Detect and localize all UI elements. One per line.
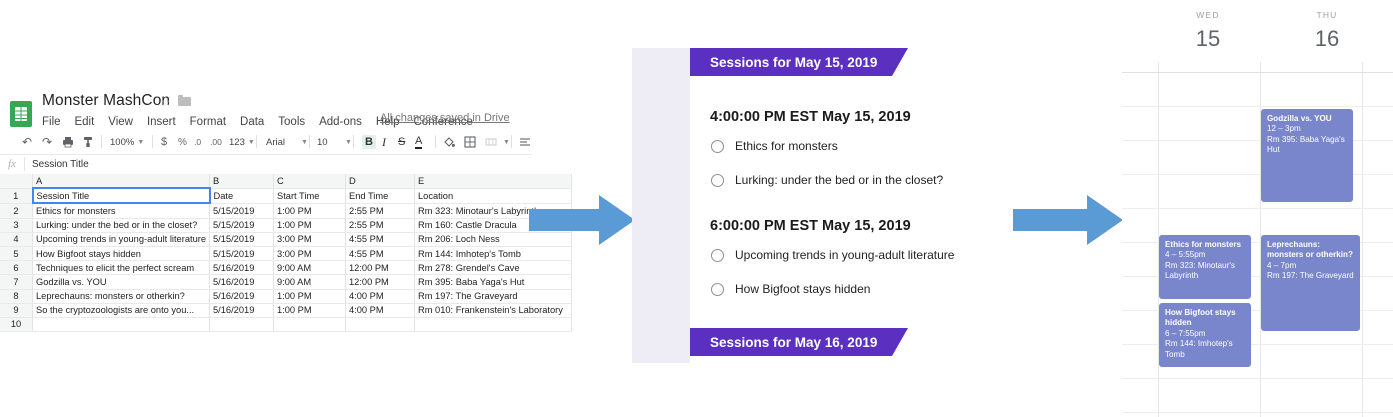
strikethrough-label: S	[398, 136, 405, 148]
row-header[interactable]: 7	[0, 275, 33, 289]
toolbar-divider	[101, 135, 102, 148]
cell-start[interactable]: 1:00 PM	[274, 203, 346, 218]
cell-d1[interactable]: End Time	[346, 188, 415, 203]
text-color-button[interactable]: A	[415, 132, 422, 152]
cell-title[interactable]: How Bigfoot stays hidden	[33, 246, 210, 260]
cell-title[interactable]: Godzilla vs. YOU	[33, 275, 210, 289]
calendar-event-godzilla[interactable]: Godzilla vs. YOU 12 – 3pm Rm 395: Baba Y…	[1261, 109, 1353, 202]
cell-start[interactable]: 9:00 AM	[274, 261, 346, 275]
calendar-event-location: Rm 197: The Graveyard	[1267, 271, 1354, 281]
column-header-c[interactable]: C	[274, 174, 346, 188]
cell-start[interactable]: 3:00 PM	[274, 232, 346, 246]
row-header[interactable]: 5	[0, 246, 33, 260]
calendar-day-header-thu[interactable]: THU 16	[1277, 10, 1377, 52]
calendar-event-time: 6 – 7:55pm	[1165, 329, 1245, 339]
spreadsheet-table: A B C D E 1 Session Title Date Start Tim…	[0, 174, 572, 332]
sessions-banner-label: Sessions for May 16, 2019	[710, 335, 877, 350]
borders-icon[interactable]	[464, 132, 476, 152]
paint-format-icon[interactable]	[82, 132, 94, 152]
row-header[interactable]: 1	[0, 188, 33, 203]
arrow-sheets-to-sessions	[529, 195, 635, 245]
cell-start[interactable]: 9:00 AM	[274, 275, 346, 289]
cell-date[interactable]: 5/15/2019	[210, 246, 274, 260]
redo-button[interactable]: ↷	[42, 132, 52, 152]
font-size-chevron-down-icon[interactable]: ▼	[342, 132, 352, 152]
calendar-event-time: 4 – 7pm	[1267, 261, 1354, 271]
sessions-panel-backdrop	[632, 48, 690, 363]
row-header[interactable]: 8	[0, 289, 33, 303]
calendar-day-number: 15	[1158, 26, 1258, 52]
table-row[interactable]: 7 Godzilla vs. YOU 5/16/2019 9:00 AM 12:…	[0, 275, 572, 289]
currency-format-button[interactable]: $	[161, 132, 167, 152]
table-row[interactable]: 6 Techniques to elicit the perfect screa…	[0, 261, 572, 275]
fill-color-icon[interactable]	[443, 132, 455, 152]
row-header[interactable]: 9	[0, 303, 33, 317]
undo-button[interactable]: ↶	[22, 132, 32, 152]
fx-icon: fx	[8, 158, 16, 170]
cell-title[interactable]: Upcoming trends in young-adult literatur…	[33, 232, 210, 246]
calendar-day-header-wed[interactable]: WED 15	[1158, 10, 1258, 52]
italic-button[interactable]: I	[382, 132, 386, 152]
document-title[interactable]: Monster MashCon	[42, 92, 170, 110]
session-option-label: Upcoming trends in young-adult literatur…	[735, 248, 954, 262]
calendar-event-title: Godzilla vs. YOU	[1267, 114, 1347, 124]
cell-start[interactable]: 3:00 PM	[274, 246, 346, 260]
toolbar-divider	[256, 135, 257, 148]
cell-empty[interactable]	[210, 317, 274, 331]
sessions-panel: Sessions for May 15, 2019 4:00:00 PM EST…	[632, 48, 957, 363]
decrease-decimal-button[interactable]: .0	[194, 132, 201, 152]
session-option-lurking[interactable]: Lurking: under the bed or in the closet?	[711, 173, 943, 187]
calendar-event-leprechauns[interactable]: Leprechauns: monsters or otherkin? 4 – 7…	[1261, 235, 1360, 331]
cell-date[interactable]: 5/15/2019	[210, 203, 274, 218]
session-option-upcoming-trends[interactable]: Upcoming trends in young-adult literatur…	[711, 248, 954, 262]
google-sheets-panel: Monster MashCon ☆ File Edit View Insert …	[0, 92, 532, 320]
row-header[interactable]: 10	[0, 317, 33, 331]
google-sheets-logo-icon	[10, 101, 32, 127]
cell-start[interactable]: 1:00 PM	[274, 303, 346, 317]
spreadsheet-grid[interactable]: A B C D E 1 Session Title Date Start Tim…	[0, 174, 532, 314]
cell-title[interactable]: Techniques to elicit the perfect scream	[33, 261, 210, 275]
column-header-d[interactable]: D	[346, 174, 415, 188]
calendar-event-ethics[interactable]: Ethics for monsters 4 – 5:55pm Rm 323: M…	[1159, 235, 1251, 299]
column-header-row: A B C D E	[0, 174, 572, 188]
bold-label: B	[362, 135, 376, 149]
cell-end[interactable]: 2:55 PM	[346, 218, 415, 232]
column-header-a[interactable]: A	[33, 174, 210, 188]
menu-item-format[interactable]: Format	[190, 116, 226, 128]
cell-a1[interactable]: Session Title	[33, 188, 210, 203]
cell-location[interactable]: Rm 010: Frankenstein's Laboratory	[415, 303, 572, 317]
cell-title[interactable]: Leprechauns: monsters or otherkin?	[33, 289, 210, 303]
calendar-event-bigfoot[interactable]: How Bigfoot stays hidden 6 – 7:55pm Rm 1…	[1159, 303, 1251, 367]
session-option-label: Ethics for monsters	[735, 139, 838, 153]
column-header-b[interactable]: B	[210, 174, 274, 188]
sessions-banner-label: Sessions for May 15, 2019	[710, 55, 877, 70]
radio-button-icon[interactable]	[711, 283, 724, 296]
corner-select-all[interactable]	[0, 174, 33, 188]
table-row[interactable]: 2 Ethics for monsters 5/15/2019 1:00 PM …	[0, 203, 572, 218]
table-row[interactable]: 10	[0, 317, 572, 331]
row-header[interactable]: 6	[0, 261, 33, 275]
table-row[interactable]: 3 Lurking: under the bed or in the close…	[0, 218, 572, 232]
calendar-event-title: How Bigfoot stays hidden	[1165, 308, 1245, 329]
radio-button-icon[interactable]	[711, 249, 724, 262]
cell-end[interactable]: 2:55 PM	[346, 203, 415, 218]
cell-empty[interactable]	[274, 317, 346, 331]
cell-end[interactable]: 4:55 PM	[346, 232, 415, 246]
session-option-ethics[interactable]: Ethics for monsters	[711, 139, 838, 153]
sheets-toolbar: ↶ ↷ 100%▼ $ % .0 .00 123▼ Arial ▼	[0, 132, 532, 152]
cell-c1[interactable]: Start Time	[274, 188, 346, 203]
save-status-link[interactable]: All changes saved in Drive	[380, 112, 510, 124]
increase-decimal-button[interactable]: .00	[210, 132, 222, 152]
table-row[interactable]: 4 Upcoming trends in young-adult literat…	[0, 232, 572, 246]
cell-title[interactable]: Lurking: under the bed or in the closet?	[33, 218, 210, 232]
calendar-hour-line	[1122, 412, 1393, 413]
table-row[interactable]: 9 So the cryptozoologists are onto you..…	[0, 303, 572, 317]
slot-title-4pm: 4:00:00 PM EST May 15, 2019	[710, 109, 911, 125]
cell-location[interactable]: Rm 278: Grendel's Cave	[415, 261, 572, 275]
calendar-event-location: Rm 144: Imhotep's Tomb	[1165, 339, 1245, 360]
table-row[interactable]: 8 Leprechauns: monsters or otherkin? 5/1…	[0, 289, 572, 303]
cell-end[interactable]: 12:00 PM	[346, 261, 415, 275]
strikethrough-button[interactable]: S	[398, 132, 405, 152]
toolbar-divider	[309, 135, 310, 148]
calendar-header: WED 15 THU 16	[1122, 0, 1393, 62]
session-option-label: How Bigfoot stays hidden	[735, 282, 870, 296]
cell-b1[interactable]: Date	[210, 188, 274, 203]
text-color-label: A	[415, 136, 422, 149]
cell-end[interactable]: 4:55 PM	[346, 246, 415, 260]
calendar-event-title: Leprechauns: monsters or otherkin?	[1267, 240, 1354, 261]
radio-button-icon[interactable]	[711, 140, 724, 153]
calendar-hour-line	[1122, 208, 1393, 209]
calendar-day-number: 16	[1277, 26, 1377, 52]
table-row[interactable]: 5 How Bigfoot stays hidden 5/15/2019 3:0…	[0, 246, 572, 260]
cell-end[interactable]: 4:00 PM	[346, 303, 415, 317]
toolbar-divider	[152, 135, 153, 148]
banner-notch	[892, 328, 908, 356]
calendar-event-location: Rm 323: Minotaur's Labyrinth	[1165, 261, 1245, 282]
menu-item-addons[interactable]: Add-ons	[319, 116, 362, 128]
align-icon[interactable]	[519, 132, 531, 152]
menu-item-file[interactable]: File	[42, 116, 61, 128]
calendar-hour-line	[1122, 106, 1393, 107]
zoom-value: 100%	[110, 137, 134, 148]
star-outline-icon[interactable]: ☆	[160, 96, 172, 108]
workflow-diagram: Monster MashCon ☆ File Edit View Insert …	[0, 0, 1393, 417]
calendar-event-title: Ethics for monsters	[1165, 240, 1245, 250]
calendar-hour-line	[1122, 378, 1393, 379]
calendar-event-location: Rm 395: Baba Yaga's Hut	[1267, 135, 1347, 156]
font-family-chevron-down-icon[interactable]: ▼	[298, 132, 308, 152]
sessions-banner-may-15: Sessions for May 15, 2019	[690, 48, 892, 76]
sessions-card: Sessions for May 15, 2019 4:00:00 PM EST…	[690, 48, 957, 363]
menu-item-insert[interactable]: Insert	[147, 116, 176, 128]
cell-location[interactable]: Rm 395: Baba Yaga's Hut	[415, 275, 572, 289]
cell-end[interactable]: 4:00 PM	[346, 289, 415, 303]
cell-date[interactable]: 5/16/2019	[210, 303, 274, 317]
menu-item-data[interactable]: Data	[240, 116, 264, 128]
google-calendar-panel: WED 15 THU 16 Godzilla vs. YOU 12 – 3pm	[1122, 0, 1393, 417]
column-header-e[interactable]: E	[415, 174, 572, 188]
font-family-selector[interactable]: Arial	[266, 132, 285, 152]
cell-location[interactable]: Rm 197: The Graveyard	[415, 289, 572, 303]
calendar-column-divider	[1362, 62, 1363, 417]
session-option-label: Lurking: under the bed or in the closet?	[735, 173, 943, 187]
folder-icon[interactable]	[178, 97, 191, 107]
cell-date[interactable]: 5/16/2019	[210, 289, 274, 303]
bold-button[interactable]: B	[362, 132, 376, 152]
cell-end[interactable]: 12:00 PM	[346, 275, 415, 289]
menu-item-view[interactable]: View	[108, 116, 133, 128]
formula-bar[interactable]: fx Session Title	[0, 154, 532, 175]
percent-format-button[interactable]: %	[178, 132, 187, 152]
toolbar-divider	[511, 135, 512, 148]
menu-item-edit[interactable]: Edit	[74, 116, 94, 128]
merge-cells-icon[interactable]	[485, 132, 497, 152]
radio-button-icon[interactable]	[711, 174, 724, 187]
calendar-day-of-week: WED	[1158, 10, 1258, 20]
zoom-selector[interactable]: 100%▼	[110, 132, 144, 152]
print-icon[interactable]	[62, 132, 74, 152]
cell-date[interactable]: 5/16/2019	[210, 261, 274, 275]
font-size-selector[interactable]: 10	[317, 132, 328, 152]
toolbar-divider	[353, 135, 354, 148]
cell-title[interactable]: Ethics for monsters	[33, 203, 210, 218]
merge-chevron-down-icon[interactable]: ▼	[500, 132, 510, 152]
cell-start[interactable]: 1:00 PM	[274, 289, 346, 303]
calendar-hour-line	[1122, 72, 1393, 73]
menu-item-tools[interactable]: Tools	[278, 116, 305, 128]
more-formats-label: 123	[229, 137, 245, 148]
formula-bar-value[interactable]: Session Title	[32, 159, 89, 170]
cell-date[interactable]: 5/15/2019	[210, 218, 274, 232]
row-header[interactable]: 2	[0, 203, 33, 218]
calendar-event-time: 12 – 3pm	[1267, 124, 1347, 134]
cell-empty[interactable]	[33, 317, 210, 331]
sheets-title-bar: Monster MashCon ☆ File Edit View Insert …	[0, 92, 532, 134]
formula-bar-divider	[24, 157, 25, 171]
calendar-event-time: 4 – 5:55pm	[1165, 250, 1245, 260]
row-header[interactable]: 3	[0, 218, 33, 232]
cell-start[interactable]: 1:00 PM	[274, 218, 346, 232]
italic-label: I	[382, 135, 386, 150]
cell-location[interactable]: Rm 144: Imhotep's Tomb	[415, 246, 572, 260]
cell-empty[interactable]	[346, 317, 415, 331]
more-formats-button[interactable]: 123▼	[229, 132, 255, 152]
sessions-banner-may-16: Sessions for May 16, 2019	[690, 328, 892, 356]
banner-notch	[892, 48, 908, 76]
table-row[interactable]: 1 Session Title Date Start Time End Time…	[0, 188, 572, 203]
cell-date[interactable]: 5/15/2019	[210, 232, 274, 246]
session-option-bigfoot[interactable]: How Bigfoot stays hidden	[711, 282, 870, 296]
calendar-day-of-week: THU	[1277, 10, 1377, 20]
row-header[interactable]: 4	[0, 232, 33, 246]
arrow-sessions-to-calendar	[1013, 195, 1123, 245]
cell-date[interactable]: 5/16/2019	[210, 275, 274, 289]
toolbar-divider	[435, 135, 436, 148]
slot-title-6pm: 6:00:00 PM EST May 15, 2019	[710, 218, 911, 234]
cell-title[interactable]: So the cryptozoologists are onto you...	[33, 303, 210, 317]
cell-empty[interactable]	[415, 317, 572, 331]
